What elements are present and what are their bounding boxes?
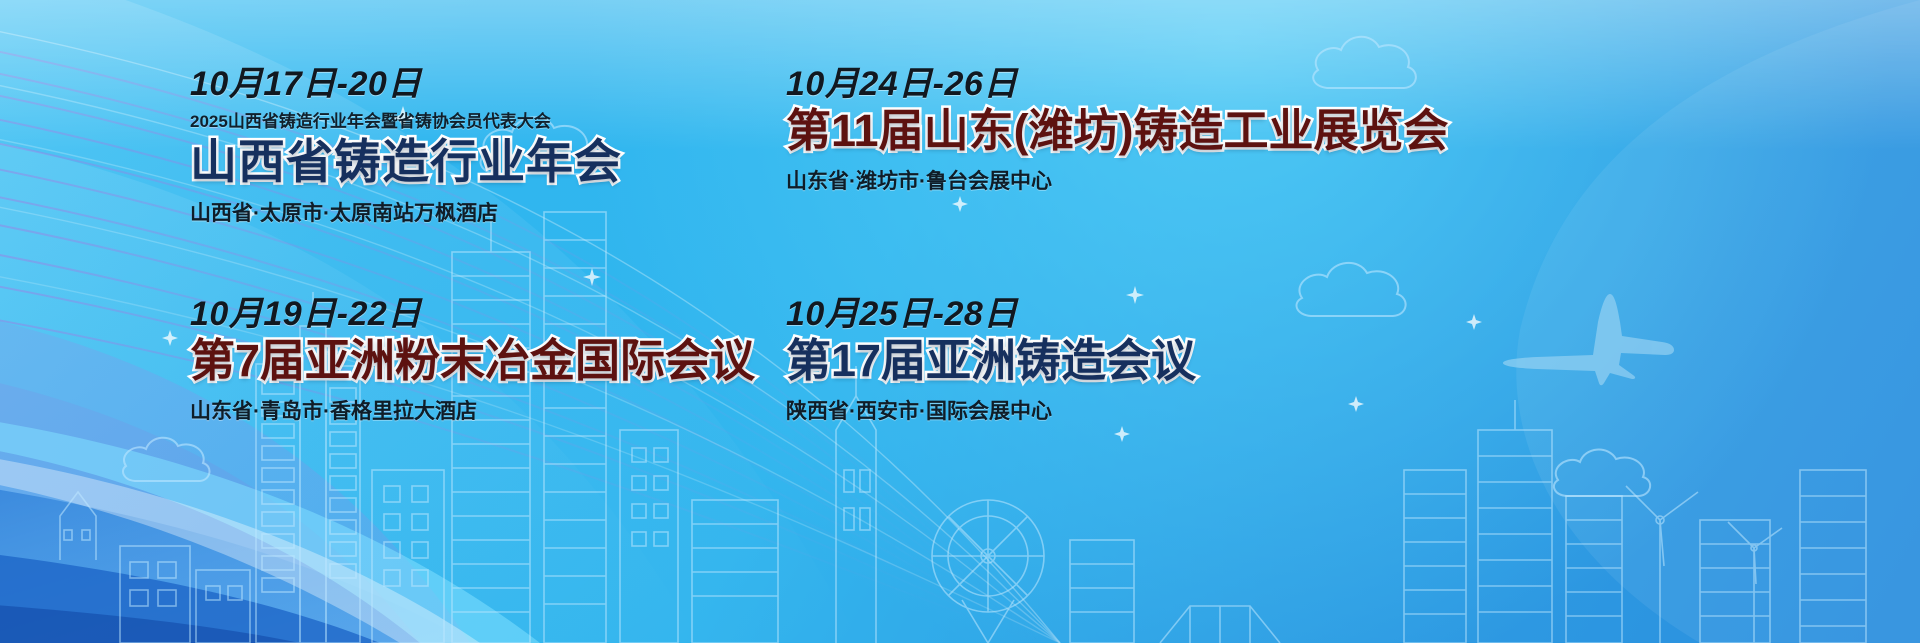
event-venue: 山东省·青岛市·香格里拉大酒店 <box>190 399 755 424</box>
right-column: 10月24日-26日 第11届山东(潍坊)铸造工业展览会 山东省·潍坊市·鲁台会… <box>780 0 1920 643</box>
event-venue: 山东省·潍坊市·鲁台会展中心 <box>786 169 1449 194</box>
event-title[interactable]: 第11届山东(潍坊)铸造工业展览会 <box>786 105 1449 157</box>
event-title[interactable]: 山西省铸造行业年会 <box>190 135 622 189</box>
event-columns: 10月17日-20日 2025山西省铸造行业年会暨省铸协会员代表大会 山西省铸造… <box>0 0 1920 643</box>
event-block-2[interactable]: 10月19日-22日 第7届亚洲粉末冶金国际会议 山东省·青岛市·香格里拉大酒店 <box>190 296 755 424</box>
left-column: 10月17日-20日 2025山西省铸造行业年会暨省铸协会员代表大会 山西省铸造… <box>0 0 780 643</box>
event-date: 10月25日-28日 <box>786 296 1196 333</box>
event-block-3[interactable]: 10月24日-26日 第11届山东(潍坊)铸造工业展览会 山东省·潍坊市·鲁台会… <box>786 66 1449 194</box>
event-subtitle: 2025山西省铸造行业年会暨省铸协会员代表大会 <box>190 112 622 132</box>
event-venue: 山西省·太原市·太原南站万枫酒店 <box>190 201 622 226</box>
event-date: 10月24日-26日 <box>786 66 1449 103</box>
event-schedule-banner: 10月17日-20日 2025山西省铸造行业年会暨省铸协会员代表大会 山西省铸造… <box>0 0 1920 643</box>
event-venue: 陕西省·西安市·国际会展中心 <box>786 399 1196 424</box>
event-block-1[interactable]: 10月17日-20日 2025山西省铸造行业年会暨省铸协会员代表大会 山西省铸造… <box>190 66 622 226</box>
event-title[interactable]: 第17届亚洲铸造会议 <box>786 335 1196 387</box>
event-block-4[interactable]: 10月25日-28日 第17届亚洲铸造会议 陕西省·西安市·国际会展中心 <box>786 296 1196 424</box>
event-title[interactable]: 第7届亚洲粉末冶金国际会议 <box>190 335 755 387</box>
event-date: 10月17日-20日 <box>190 66 622 103</box>
event-date: 10月19日-22日 <box>190 296 755 333</box>
